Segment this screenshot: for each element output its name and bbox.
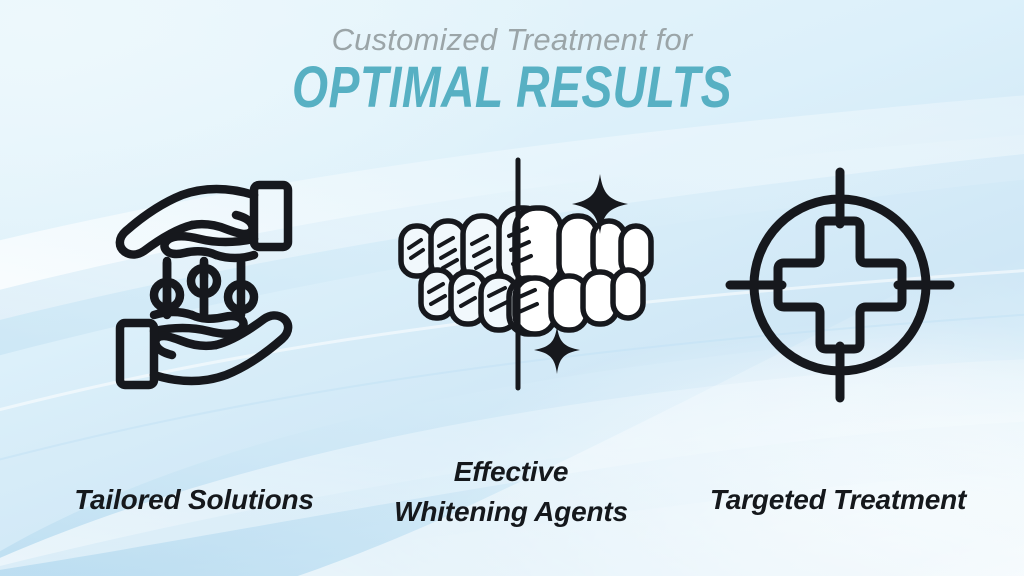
caption-tailored-solutions: Tailored Solutions — [12, 480, 376, 520]
caption-line: Tailored Solutions — [12, 480, 376, 520]
feature-icon-targeted-treatment — [700, 160, 980, 410]
crosshair-target-plus-icon — [724, 166, 956, 404]
slide-canvas: Customized Treatment for OPTIMAL RESULTS — [0, 0, 1024, 576]
feature-icon-tailored-solutions — [64, 160, 344, 410]
teeth-whitening-comparison-icon — [387, 166, 637, 404]
caption-effective-whitening-agents: Effective Whitening Agents — [346, 452, 676, 532]
feature-icon-effective-whitening-agents — [372, 160, 652, 410]
heading-block: Customized Treatment for OPTIMAL RESULTS — [0, 24, 1024, 117]
hands-sliders-icon — [104, 173, 304, 397]
feature-icon-row — [0, 160, 1024, 410]
page-title: OPTIMAL RESULTS — [102, 59, 921, 117]
caption-targeted-treatment: Targeted Treatment — [662, 480, 1014, 520]
caption-line: Whitening Agents — [346, 492, 676, 532]
subtitle: Customized Treatment for — [0, 24, 1024, 57]
caption-line: Effective — [346, 452, 676, 492]
caption-line: Targeted Treatment — [662, 480, 1014, 520]
